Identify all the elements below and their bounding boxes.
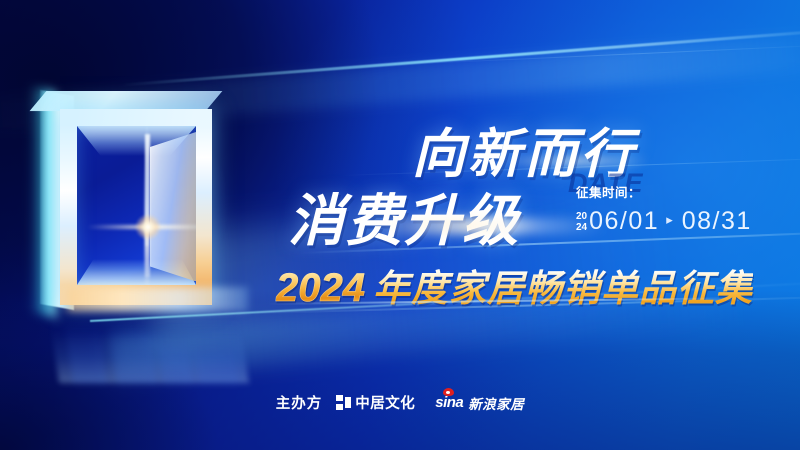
portal-door-graphic xyxy=(38,95,238,325)
sina-eye-icon xyxy=(443,388,454,396)
organizer-label: 主办方 xyxy=(276,392,323,413)
subtitle-year: 2024 xyxy=(276,266,365,311)
date-end: 08/31 xyxy=(682,207,752,236)
date-range-row: 20 24 06/01 ▸ 08/31 xyxy=(576,207,752,236)
sina-logo-icon: sina xyxy=(435,395,463,410)
headline-line-2: 消费升级 xyxy=(288,176,520,257)
date-block: DATE 征集时间： 20 24 06/01 ▸ 08/31 xyxy=(576,182,752,236)
subtitle-row: 2024 年度家居畅销单品征集 xyxy=(276,258,753,312)
organizer-sina: sina 新浪家居 xyxy=(435,393,524,413)
sina-wordmark: sina xyxy=(435,395,463,410)
door-base-glow xyxy=(68,287,248,311)
footer-organizers: 主办方 中居文化 sina 新浪家居 xyxy=(0,392,800,413)
date-year-stacked: 20 24 xyxy=(576,212,587,232)
door-frame-border xyxy=(60,109,212,305)
date-year-bottom: 24 xyxy=(576,223,587,233)
door-top-slab xyxy=(30,91,223,111)
date-separator-icon: ▸ xyxy=(666,212,673,228)
date-start: 06/01 xyxy=(589,207,659,236)
organizer-sina-label: 新浪家居 xyxy=(468,393,524,413)
promo-banner: 向新而行 消费升级 DATE 征集时间： 20 24 06/01 ▸ 08/31… xyxy=(0,0,800,450)
door-frame xyxy=(60,109,212,305)
door-reflection xyxy=(49,313,249,383)
date-year-top: 20 xyxy=(576,212,587,222)
zhongju-logo-icon xyxy=(336,395,351,410)
subtitle-text: 年度家居畅销单品征集 xyxy=(373,258,753,312)
organizer-zhongju: 中居文化 xyxy=(336,392,415,413)
organizer-zhongju-label: 中居文化 xyxy=(355,392,415,413)
date-label: 征集时间： xyxy=(576,182,752,201)
